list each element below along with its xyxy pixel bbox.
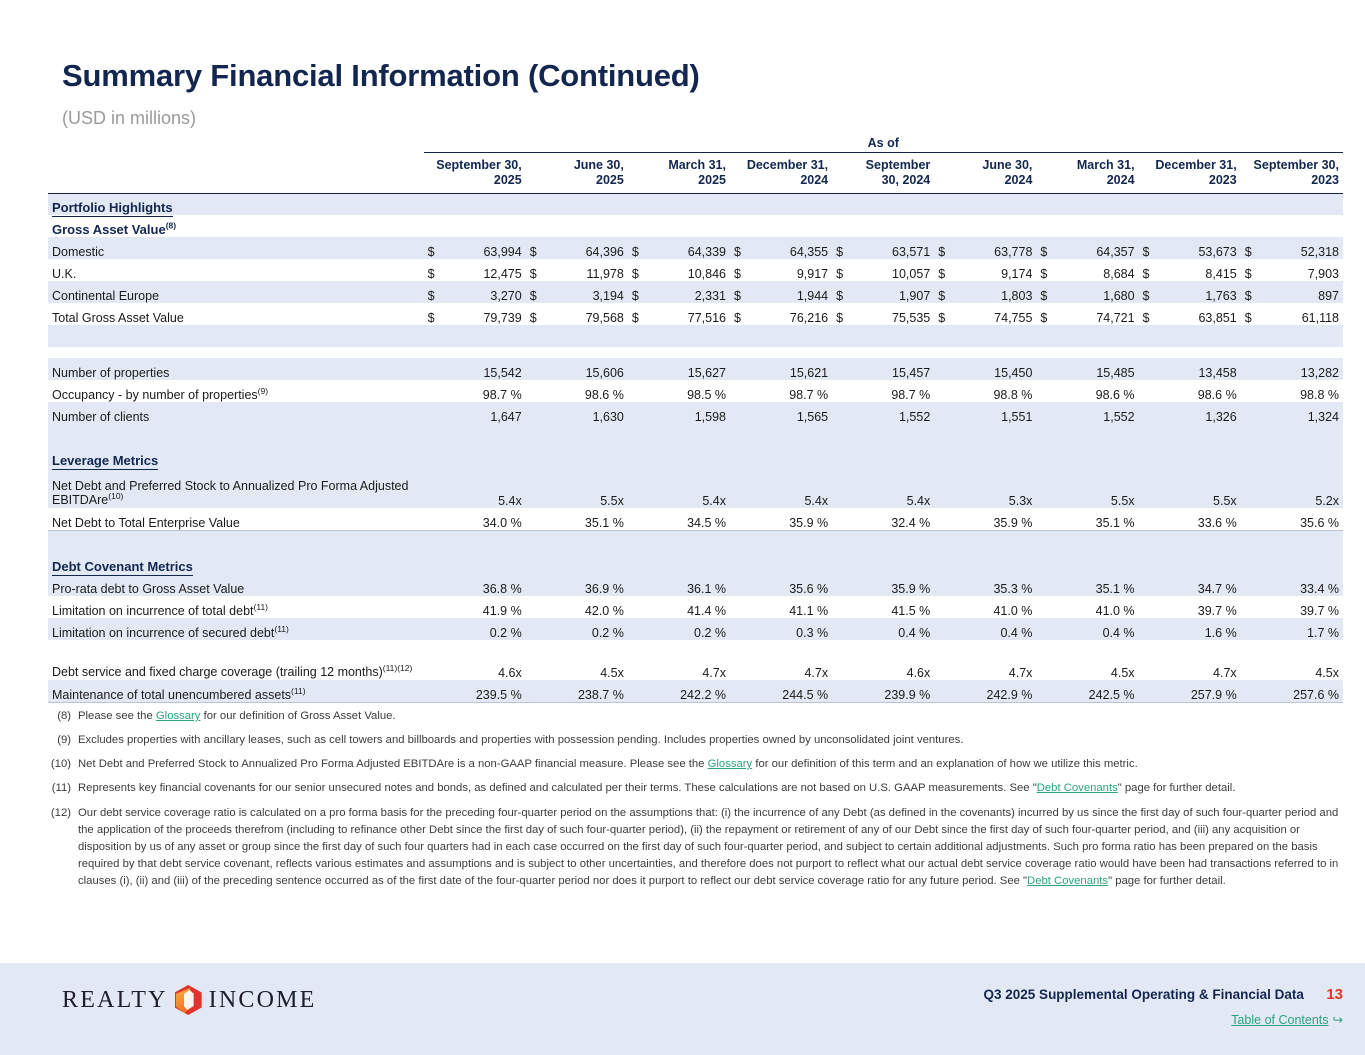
subsection-header-row: Gross Asset Value(8)	[48, 215, 1343, 237]
cell-value: 35.9 %	[854, 574, 934, 596]
header-line2: 2023	[1311, 173, 1339, 187]
cell-value: 1,552	[854, 402, 934, 424]
currency-symbol	[526, 640, 548, 680]
cell-value: 4.7x	[1161, 640, 1241, 680]
cell-value: 34.5 %	[650, 508, 730, 530]
header-line2: 2024	[1005, 173, 1033, 187]
cell-value: 5.4x	[650, 468, 730, 508]
cell-value: 15,457	[854, 358, 934, 380]
row-label: Net Debt to Total Enterprise Value	[48, 508, 424, 530]
table-body: Portfolio HighlightsGross Asset Value(8)…	[48, 193, 1343, 702]
cell-value: 33.4 %	[1263, 574, 1343, 596]
spanning-header-row: As of	[48, 136, 1343, 153]
currency-symbol	[424, 640, 446, 680]
section-title: Debt Covenant Metrics	[48, 552, 1343, 574]
row-label: Debt service and fixed charge coverage (…	[48, 640, 424, 680]
footnote: (12)Our debt service coverage ratio is c…	[48, 805, 1348, 891]
cell-value: 257.9 %	[1161, 680, 1241, 702]
cell-value: 13,458	[1161, 358, 1241, 380]
header-line1: September	[866, 158, 931, 172]
header-line1: December 31,	[1155, 158, 1236, 172]
currency-symbol: $	[730, 237, 752, 259]
footnote: (8)Please see the Glossary for our defin…	[48, 708, 1348, 725]
summary-financial-table: As of September 30, 2025 June 30, 2025 M…	[48, 136, 1343, 703]
as-of-header: As of	[424, 136, 1343, 153]
cell-value: 1,944	[752, 281, 832, 303]
table-row: Pro-rata debt to Gross Asset Value36.8 %…	[48, 574, 1343, 596]
cell-value: 1,598	[650, 402, 730, 424]
toc-arrow-icon[interactable]: ↪	[1333, 1013, 1343, 1027]
table-row: Continental Europe$3,270$3,194$2,331$1,9…	[48, 281, 1343, 303]
cell-value: 15,542	[446, 358, 526, 380]
cell-value: 77,516	[650, 303, 730, 325]
currency-symbol	[424, 402, 446, 424]
currency-symbol	[934, 574, 956, 596]
currency-symbol	[526, 596, 548, 618]
currency-symbol	[424, 468, 446, 508]
footnote-text: Excludes properties with ancillary lease…	[78, 732, 1348, 749]
currency-symbol	[424, 618, 446, 640]
currency-symbol	[628, 402, 650, 424]
currency-symbol: $	[526, 281, 548, 303]
currency-symbol	[934, 596, 956, 618]
cell-value: 4.7x	[956, 640, 1036, 680]
currency-symbol	[1036, 640, 1058, 680]
financial-table-container: As of September 30, 2025 June 30, 2025 M…	[48, 136, 1343, 703]
cell-value: 1,907	[854, 281, 934, 303]
column-header-3: December 31, 2024	[730, 153, 832, 194]
spacer-cell	[48, 325, 1343, 347]
currency-symbol	[1036, 596, 1058, 618]
cell-value: 35.3 %	[956, 574, 1036, 596]
currency-symbol	[628, 358, 650, 380]
header-line1: March 31,	[668, 158, 726, 172]
cell-value: 98.6 %	[548, 380, 628, 402]
cell-value: 41.0 %	[1058, 596, 1138, 618]
cell-value: 1,324	[1263, 402, 1343, 424]
currency-symbol: $	[424, 259, 446, 281]
logo-text-left: REALTY	[62, 987, 168, 1014]
currency-symbol	[1139, 402, 1161, 424]
row-label: Number of properties	[48, 358, 424, 380]
header-line1: June 30,	[982, 158, 1032, 172]
cell-value: 61,118	[1263, 303, 1343, 325]
currency-symbol	[832, 640, 854, 680]
table-row: Occupancy - by number of properties(9)98…	[48, 380, 1343, 402]
currency-symbol	[832, 380, 854, 402]
cell-value: 64,357	[1058, 237, 1138, 259]
row-label: Domestic	[48, 237, 424, 259]
currency-symbol	[832, 358, 854, 380]
footer-right-block: Q3 2025 Supplemental Operating & Financi…	[984, 986, 1343, 1027]
currency-symbol	[1241, 574, 1263, 596]
currency-symbol	[934, 468, 956, 508]
cell-value: 0.2 %	[650, 618, 730, 640]
currency-symbol: $	[628, 281, 650, 303]
currency-symbol	[1139, 468, 1161, 508]
row-label: Pro-rata debt to Gross Asset Value	[48, 574, 424, 596]
cell-value: 39.7 %	[1161, 596, 1241, 618]
header-line1: December 31,	[747, 158, 828, 172]
cell-value: 15,627	[650, 358, 730, 380]
currency-symbol	[832, 596, 854, 618]
cell-value: 244.5 %	[752, 680, 832, 702]
realty-income-logo: REALTY INCOME	[62, 985, 317, 1015]
currency-symbol	[1139, 358, 1161, 380]
table-row: Maintenance of total unencumbered assets…	[48, 680, 1343, 702]
cell-value: 74,755	[956, 303, 1036, 325]
cell-value: 15,450	[956, 358, 1036, 380]
page-subtitle: (USD in millions)	[62, 108, 196, 129]
currency-symbol	[526, 618, 548, 640]
cell-value: 35.6 %	[1263, 508, 1343, 530]
currency-symbol	[424, 574, 446, 596]
table-row: Limitation on incurrence of secured debt…	[48, 618, 1343, 640]
cell-value: 79,739	[446, 303, 526, 325]
currency-symbol: $	[526, 237, 548, 259]
currency-symbol: $	[1241, 303, 1263, 325]
currency-symbol: $	[1241, 259, 1263, 281]
currency-symbol: $	[1036, 303, 1058, 325]
cell-value: 34.0 %	[446, 508, 526, 530]
currency-symbol: $	[1139, 303, 1161, 325]
column-header-4: September 30, 2024	[832, 153, 934, 194]
cell-value: 5.5x	[1161, 468, 1241, 508]
cell-value: 12,475	[446, 259, 526, 281]
currency-symbol	[526, 680, 548, 702]
column-header-7: December 31, 2023	[1139, 153, 1241, 194]
cell-value: 1,630	[548, 402, 628, 424]
section-header-row: Portfolio Highlights	[48, 193, 1343, 215]
cell-value: 79,568	[548, 303, 628, 325]
cell-value: 5.3x	[956, 468, 1036, 508]
currency-symbol	[730, 468, 752, 508]
cell-value: 4.5x	[548, 640, 628, 680]
table-row: Limitation on incurrence of total debt(1…	[48, 596, 1343, 618]
cell-value: 75,535	[854, 303, 934, 325]
currency-symbol: $	[526, 303, 548, 325]
cell-value: 8,415	[1161, 259, 1241, 281]
footnote-link[interactable]: Glossary	[156, 710, 201, 722]
table-of-contents-link[interactable]: Table of Contents	[1231, 1013, 1328, 1027]
cell-value: 1,680	[1058, 281, 1138, 303]
currency-symbol	[934, 640, 956, 680]
column-header-8: September 30, 2023	[1241, 153, 1343, 194]
cell-value: 35.9 %	[752, 508, 832, 530]
document-page: Summary Financial Information (Continued…	[0, 0, 1365, 1055]
currency-symbol	[1241, 640, 1263, 680]
cell-value: 33.6 %	[1161, 508, 1241, 530]
currency-symbol	[1241, 508, 1263, 530]
cell-value: 35.9 %	[956, 508, 1036, 530]
footnote-marker: (10)	[48, 756, 78, 773]
currency-symbol: $	[1241, 281, 1263, 303]
currency-symbol	[1139, 618, 1161, 640]
currency-symbol: $	[730, 281, 752, 303]
currency-symbol: $	[1036, 259, 1058, 281]
currency-symbol	[628, 596, 650, 618]
cell-value: 36.8 %	[446, 574, 526, 596]
cell-value: 5.5x	[1058, 468, 1138, 508]
currency-symbol: $	[730, 259, 752, 281]
table-head: As of September 30, 2025 June 30, 2025 M…	[48, 136, 1343, 193]
currency-symbol	[424, 508, 446, 530]
section-header-row: Leverage Metrics	[48, 446, 1343, 468]
footnote: (9)Excludes properties with ancillary le…	[48, 732, 1348, 749]
currency-symbol	[730, 380, 752, 402]
currency-symbol: $	[1139, 259, 1161, 281]
currency-symbol	[934, 358, 956, 380]
column-header-2: March 31, 2025	[628, 153, 730, 194]
cell-value: 64,339	[650, 237, 730, 259]
currency-symbol: $	[832, 303, 854, 325]
currency-symbol	[1241, 380, 1263, 402]
cell-value: 13,282	[1263, 358, 1343, 380]
currency-symbol	[526, 508, 548, 530]
header-line2: 2025	[596, 173, 624, 187]
cell-value: 2,331	[650, 281, 730, 303]
cell-value: 3,270	[446, 281, 526, 303]
cell-value: 36.1 %	[650, 574, 730, 596]
section-gap-band	[48, 424, 1343, 446]
cell-value: 9,917	[752, 259, 832, 281]
currency-symbol	[424, 596, 446, 618]
cell-value: 10,057	[854, 259, 934, 281]
currency-symbol: $	[934, 259, 956, 281]
footnote-link[interactable]: Debt Covenants	[1037, 782, 1118, 794]
section-title: Portfolio Highlights	[48, 193, 1343, 215]
section-header-row: Debt Covenant Metrics	[48, 552, 1343, 574]
cell-value: 1,803	[956, 281, 1036, 303]
row-label: U.K.	[48, 259, 424, 281]
footnotes-list: (8)Please see the Glossary for our defin…	[48, 708, 1348, 897]
cell-value: 1,565	[752, 402, 832, 424]
currency-symbol	[628, 618, 650, 640]
footer-page-number: 13	[1326, 986, 1343, 1003]
currency-symbol: $	[934, 303, 956, 325]
currency-symbol	[1036, 508, 1058, 530]
footnote-marker: (9)	[48, 732, 78, 749]
currency-symbol	[1139, 508, 1161, 530]
cell-value: 5.4x	[752, 468, 832, 508]
currency-symbol	[1241, 358, 1263, 380]
cell-value: 36.9 %	[548, 574, 628, 596]
currency-symbol: $	[934, 237, 956, 259]
cell-value: 10,846	[650, 259, 730, 281]
table-row: Total Gross Asset Value$79,739$79,568$77…	[48, 303, 1343, 325]
currency-symbol: $	[628, 303, 650, 325]
footer-doc-title: Q3 2025 Supplemental Operating & Financi…	[984, 987, 1304, 1002]
currency-symbol	[730, 680, 752, 702]
currency-symbol	[424, 358, 446, 380]
currency-symbol	[424, 680, 446, 702]
header-line2: 2025	[698, 173, 726, 187]
currency-symbol	[832, 680, 854, 702]
currency-symbol	[1241, 618, 1263, 640]
cell-value: 0.4 %	[1058, 618, 1138, 640]
currency-symbol	[730, 596, 752, 618]
row-label: Limitation on incurrence of secured debt…	[48, 618, 424, 640]
currency-symbol	[1036, 468, 1058, 508]
currency-symbol: $	[1139, 281, 1161, 303]
currency-symbol	[832, 618, 854, 640]
currency-symbol	[832, 468, 854, 508]
footnote-text: Please see the Glossary for our definiti…	[78, 708, 1348, 725]
currency-symbol	[526, 358, 548, 380]
cell-value: 32.4 %	[854, 508, 934, 530]
currency-symbol	[934, 618, 956, 640]
header-line2: 2024	[1107, 173, 1135, 187]
footnote-text: Our debt service coverage ratio is calcu…	[78, 805, 1348, 891]
cell-value: 42.0 %	[548, 596, 628, 618]
cell-value: 0.2 %	[548, 618, 628, 640]
logo-text-right: INCOME	[209, 987, 317, 1014]
cell-value: 98.8 %	[956, 380, 1036, 402]
spacer-cell	[48, 347, 1343, 358]
cell-value: 5.5x	[548, 468, 628, 508]
cell-value: 35.6 %	[752, 574, 832, 596]
currency-symbol: $	[1036, 281, 1058, 303]
currency-symbol	[1139, 640, 1161, 680]
currency-symbol	[934, 680, 956, 702]
currency-symbol	[1241, 680, 1263, 702]
currency-symbol	[934, 508, 956, 530]
footnote-text: Represents key financial covenants for o…	[78, 780, 1348, 797]
cell-value: 0.2 %	[446, 618, 526, 640]
cell-value: 5.2x	[1263, 468, 1343, 508]
cell-value: 8,684	[1058, 259, 1138, 281]
currency-symbol: $	[424, 281, 446, 303]
cell-value: 98.6 %	[1058, 380, 1138, 402]
currency-symbol	[628, 680, 650, 702]
currency-symbol	[832, 402, 854, 424]
column-header-1: June 30, 2025	[526, 153, 628, 194]
cell-value: 98.5 %	[650, 380, 730, 402]
row-label: Maintenance of total unencumbered assets…	[48, 680, 424, 702]
currency-symbol	[424, 380, 446, 402]
cell-value: 52,318	[1263, 237, 1343, 259]
subsection-title: Gross Asset Value(8)	[48, 215, 1343, 237]
cell-value: 1,763	[1161, 281, 1241, 303]
currency-symbol: $	[424, 303, 446, 325]
currency-symbol	[1139, 680, 1161, 702]
currency-symbol	[934, 380, 956, 402]
table-row: Net Debt to Total Enterprise Value34.0 %…	[48, 508, 1343, 530]
currency-symbol	[628, 508, 650, 530]
hexagon-logo-icon	[175, 985, 202, 1015]
cell-value: 39.7 %	[1263, 596, 1343, 618]
cell-value: 1,552	[1058, 402, 1138, 424]
column-header-5: June 30, 2024	[934, 153, 1036, 194]
header-line1: March 31,	[1077, 158, 1135, 172]
column-header-6: March 31, 2024	[1036, 153, 1138, 194]
currency-symbol: $	[1139, 237, 1161, 259]
cell-value: 76,216	[752, 303, 832, 325]
currency-symbol	[832, 574, 854, 596]
footnote-link[interactable]: Glossary	[708, 758, 753, 770]
cell-value: 4.7x	[650, 640, 730, 680]
header-blank	[48, 153, 424, 194]
footnote-marker: (11)	[48, 780, 78, 797]
cell-value: 5.4x	[854, 468, 934, 508]
section-gap-band	[48, 325, 1343, 347]
currency-symbol	[1139, 596, 1161, 618]
header-line1: September 30,	[436, 158, 521, 172]
currency-symbol: $	[628, 259, 650, 281]
cell-value: 41.1 %	[752, 596, 832, 618]
cell-value: 3,194	[548, 281, 628, 303]
cell-value: 4.5x	[1263, 640, 1343, 680]
cell-value: 1,647	[446, 402, 526, 424]
row-label: Total Gross Asset Value	[48, 303, 424, 325]
currency-symbol: $	[628, 237, 650, 259]
currency-symbol	[628, 574, 650, 596]
cell-value: 98.6 %	[1161, 380, 1241, 402]
cell-value: 98.7 %	[752, 380, 832, 402]
row-label: Number of clients	[48, 402, 424, 424]
cell-value: 1,326	[1161, 402, 1241, 424]
currency-symbol: $	[730, 303, 752, 325]
currency-symbol	[628, 468, 650, 508]
header-line1: September 30,	[1254, 158, 1339, 172]
cell-value: 9,174	[956, 259, 1036, 281]
header-line2: 2025	[494, 173, 522, 187]
cell-value: 5.4x	[446, 468, 526, 508]
column-header-0: September 30, 2025	[424, 153, 526, 194]
cell-value: 0.3 %	[752, 618, 832, 640]
column-header-row: September 30, 2025 June 30, 2025 March 3…	[48, 153, 1343, 194]
cell-value: 35.1 %	[1058, 508, 1138, 530]
table-row: Domestic$63,994$64,396$64,339$64,355$63,…	[48, 237, 1343, 259]
cell-value: 35.1 %	[1058, 574, 1138, 596]
cell-value: 4.5x	[1058, 640, 1138, 680]
table-of-contents-link-wrap[interactable]: Table of Contents↪	[984, 1012, 1343, 1027]
cell-value: 63,571	[854, 237, 934, 259]
currency-symbol	[1036, 680, 1058, 702]
currency-symbol	[1139, 380, 1161, 402]
currency-symbol	[1241, 468, 1263, 508]
currency-symbol: $	[934, 281, 956, 303]
currency-symbol	[1036, 380, 1058, 402]
cell-value: 242.9 %	[956, 680, 1036, 702]
section-gap-band	[48, 530, 1343, 552]
cell-value: 15,621	[752, 358, 832, 380]
footnote-text: Net Debt and Preferred Stock to Annualiz…	[78, 756, 1348, 773]
currency-symbol	[730, 640, 752, 680]
cell-value: 4.6x	[854, 640, 934, 680]
currency-symbol	[730, 618, 752, 640]
currency-symbol	[730, 402, 752, 424]
cell-value: 74,721	[1058, 303, 1138, 325]
cell-value: 0.4 %	[956, 618, 1036, 640]
cell-value: 98.8 %	[1263, 380, 1343, 402]
header-line2: 2023	[1209, 173, 1237, 187]
spacer-cell	[48, 424, 1343, 446]
cell-value: 4.7x	[752, 640, 832, 680]
row-label: Occupancy - by number of properties(9)	[48, 380, 424, 402]
footnote-marker: (12)	[48, 805, 78, 891]
cell-value: 15,606	[548, 358, 628, 380]
table-row: Debt service and fixed charge coverage (…	[48, 640, 1343, 680]
header-line2: 30, 2024	[882, 173, 931, 187]
row-label: Net Debt and Preferred Stock to Annualiz…	[48, 468, 424, 508]
currency-symbol: $	[832, 237, 854, 259]
cell-value: 897	[1263, 281, 1343, 303]
cell-value: 41.5 %	[854, 596, 934, 618]
cell-value: 0.4 %	[854, 618, 934, 640]
footnote-link[interactable]: Debt Covenants	[1027, 875, 1108, 887]
footnote: (11)Represents key financial covenants f…	[48, 780, 1348, 797]
